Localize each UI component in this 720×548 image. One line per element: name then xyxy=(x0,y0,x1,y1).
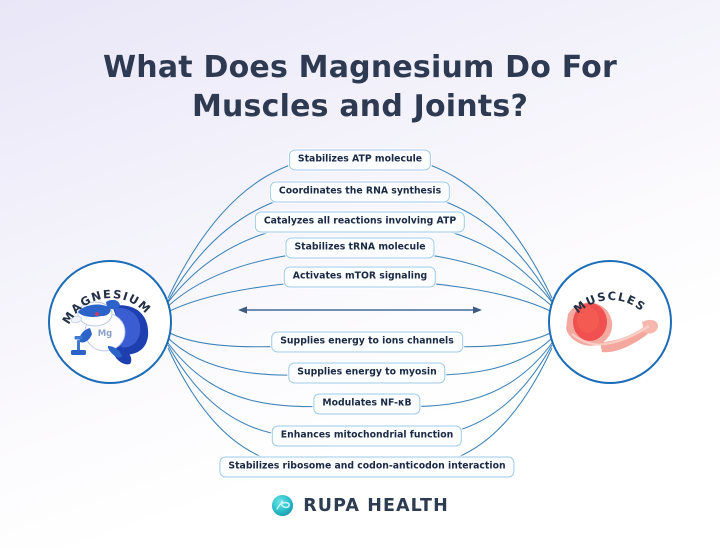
infographic-root: What Does Magnesium Do For Muscles and J… xyxy=(0,0,720,548)
function-label-lower-2[interactable]: Supplies energy to myosin xyxy=(288,363,445,384)
center-bidirectional-arrow xyxy=(238,306,482,313)
curve-upper-3 xyxy=(166,220,554,305)
rupa-globe-icon xyxy=(271,494,294,517)
footer-brand[interactable]: RUPA HEALTH xyxy=(0,494,720,517)
function-label-upper-2[interactable]: Coordinates the RNA synthesis xyxy=(270,182,450,203)
function-label-upper-1[interactable]: Stabilizes ATP molecule xyxy=(289,150,431,171)
function-label-upper-5[interactable]: Activates mTOR signaling xyxy=(284,267,436,288)
connector-curves-upper xyxy=(164,154,556,314)
function-label-lower-1[interactable]: Supplies energy to ions channels xyxy=(271,332,463,353)
function-label-lower-4[interactable]: Enhances mitochondrial function xyxy=(272,426,462,447)
node-magnesium[interactable]: Mg MAGNESIUM xyxy=(48,260,172,384)
function-label-lower-3[interactable]: Modulates NF-κB xyxy=(313,394,420,415)
function-label-upper-3[interactable]: Catalyzes all reactions involving ATP xyxy=(255,212,465,233)
svg-text:Mg: Mg xyxy=(98,329,113,339)
brand-name: RUPA HEALTH xyxy=(303,496,449,516)
flexed-arm-bicep-icon xyxy=(550,262,670,382)
function-label-lower-5[interactable]: Stabilizes ribosome and codon-anticodon … xyxy=(219,457,514,478)
magnesium-superhero-mascot-icon: Mg xyxy=(50,262,170,382)
node-muscles[interactable]: MUSCLES xyxy=(548,260,672,384)
function-label-upper-4[interactable]: Stabilizes tRNA molecule xyxy=(285,238,434,259)
